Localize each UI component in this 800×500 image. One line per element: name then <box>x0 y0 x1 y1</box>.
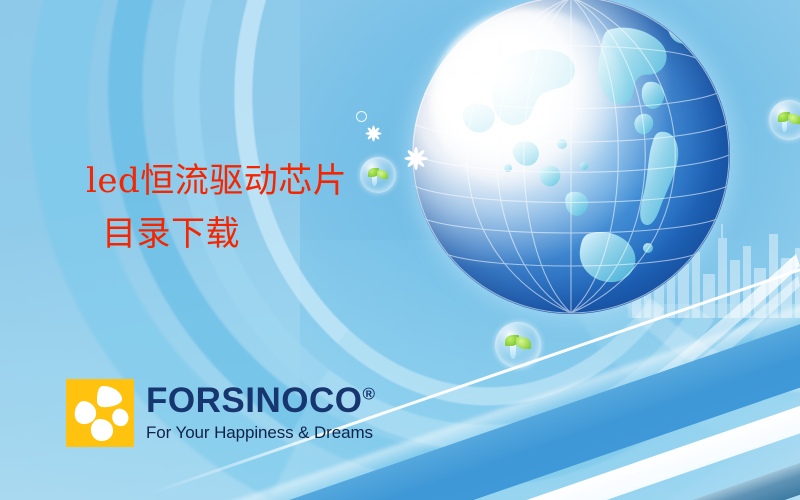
bubble-green-sprout-icon <box>769 100 800 140</box>
four-petal-flower-icon <box>66 379 134 447</box>
company-logo: FORSINOCO® For Your Happiness & Dreams <box>66 379 375 447</box>
globe-continents <box>412 0 730 314</box>
headline: led恒流驱动芯片 目录下载 <box>86 163 416 252</box>
globe-sphere <box>412 0 730 314</box>
bubble-green-sprout-icon <box>495 322 541 368</box>
globe-grid-lines <box>412 0 730 314</box>
globe-highlight <box>431 9 628 193</box>
headline-line-1: led恒流驱动芯片 <box>86 163 416 200</box>
earth-globe-icon <box>412 0 730 314</box>
registered-trademark-icon: ® <box>362 384 375 403</box>
light-rays <box>560 250 800 440</box>
background-glow-bottom <box>0 240 800 500</box>
circle-outline-icon <box>356 111 367 122</box>
logo-text-block: FORSINOCO® For Your Happiness & Dreams <box>146 379 375 441</box>
asterisk-flower-icon <box>364 124 382 142</box>
logo-wordmark-text: FORSINOCO <box>146 381 362 420</box>
swirl-arc-5 <box>423 0 800 500</box>
ribbon-band-blue <box>110 249 800 500</box>
ribbon-band-foot <box>320 381 800 500</box>
headline-line-2: 目录下载 <box>102 216 416 253</box>
city-skyline-icon <box>628 208 800 318</box>
logo-tagline: For Your Happiness & Dreams <box>146 424 375 441</box>
ribbon-band-gloss <box>177 227 800 500</box>
promo-banner: led恒流驱动芯片 目录下载 FORSINOCO® For Your Happi… <box>0 0 800 500</box>
logo-wordmark: FORSINOCO® <box>146 383 375 418</box>
swirl-arc-6 <box>499 0 800 441</box>
